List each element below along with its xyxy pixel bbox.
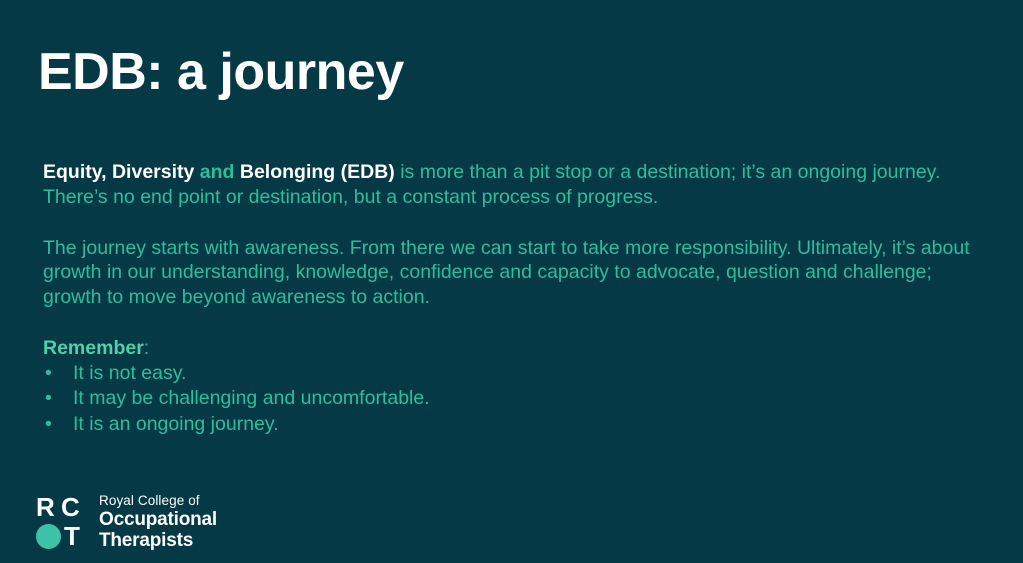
remember-colon: : (144, 337, 149, 359)
rcot-logo-line-2: Occupational (99, 509, 217, 530)
list-item: • It is not easy. (43, 361, 973, 386)
list-item: • It may be challenging and uncomfortabl… (43, 386, 973, 411)
slide-body: Equity, Diversity and Belonging (EDB) is… (43, 160, 973, 437)
remember-heading: Remember: (43, 336, 973, 361)
rcot-logo-mark-icon: R C T (36, 493, 88, 551)
paragraph-2: The journey starts with awareness. From … (43, 236, 973, 310)
bullet-point-icon: • (45, 361, 52, 386)
bullet-point-icon: • (45, 386, 52, 411)
rcot-logo: R C T Royal College of Occupational Ther… (36, 492, 217, 551)
rcot-logo-letter-r: R (36, 494, 61, 520)
rcot-logo-letter-t: T (61, 523, 88, 549)
list-item-label: It is an ongoing journey. (73, 413, 279, 435)
page-title: EDB: a journey (38, 45, 404, 100)
paragraph-1-emphasis-white-1: Equity, Diversity (43, 161, 200, 183)
rcot-logo-letter-c: C (61, 494, 86, 520)
list-item-label: It is not easy. (73, 362, 186, 384)
bullet-point-icon: • (45, 412, 52, 437)
paragraph-1: Equity, Diversity and Belonging (EDB) is… (43, 160, 973, 210)
rcot-logo-line-1: Royal College of (99, 492, 217, 509)
rcot-logo-mark-row-top: R C (36, 493, 88, 522)
slide-canvas: EDB: a journey Equity, Diversity and Bel… (0, 0, 1023, 563)
remember-label: Remember (43, 337, 144, 359)
remember-bullet-list: • It is not easy. • It may be challengin… (43, 361, 973, 437)
rcot-logo-line-3: Therapists (99, 530, 217, 551)
rcot-logo-wordmark: Royal College of Occupational Therapists (99, 492, 217, 551)
paragraph-1-emphasis-teal: and (200, 161, 235, 183)
list-item: • It is an ongoing journey. (43, 412, 973, 437)
paragraph-1-emphasis-white-2: Belonging (EDB) (234, 161, 394, 183)
rcot-logo-circle-icon (36, 524, 61, 549)
rcot-logo-mark-row-bottom: T (36, 522, 88, 551)
list-item-label: It may be challenging and uncomfortable. (73, 387, 430, 409)
